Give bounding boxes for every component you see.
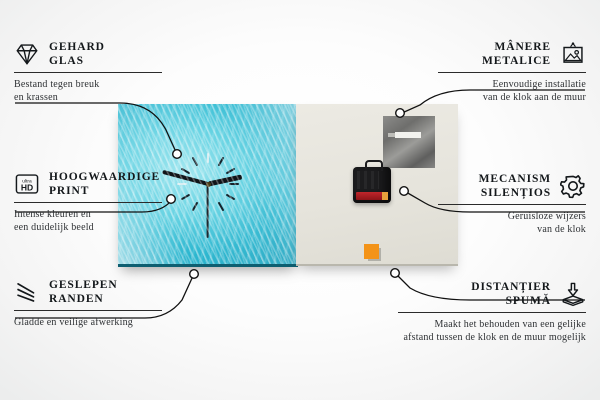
infographic-canvas: GEHARD GLAS Bestand tegen breuk en krass… (0, 0, 600, 400)
feature-subtitle-line1: Maakt het behouden van een gelijke (336, 318, 586, 331)
feature-title: DISTANȚIER SPUMĂ (471, 280, 551, 308)
feature-subtitle-line1: Bestand tegen breuk (14, 78, 224, 91)
feature-title: GEHARD GLAS (49, 40, 105, 68)
feature-manere-metalice: MÂNERE METALICE Eenvoudige installatie v… (376, 40, 586, 104)
feature-distantier-spuma: DISTANȚIER SPUMĂ Maakt het behouden van … (336, 280, 586, 344)
feature-hoogwaardige-print: ultra HD HOOGWAARDIGE PRINT Intense kleu… (14, 170, 224, 234)
feature-subtitle-line1: Eenvoudige installatie (376, 78, 586, 91)
feature-title: MÂNERE METALICE (482, 40, 551, 68)
foam-spacer (364, 244, 379, 259)
spacer-down-arrow-icon (560, 281, 586, 307)
feature-divider (14, 310, 162, 311)
feature-header: ultra HD HOOGWAARDIGE PRINT (14, 170, 224, 198)
gear-icon (560, 173, 586, 199)
feature-title: GESLEPEN RANDEN (49, 278, 118, 306)
feature-divider (14, 72, 162, 73)
wall-hanging-picture-icon (560, 41, 586, 67)
feature-divider (438, 204, 586, 205)
metal-hanger-plate (383, 116, 435, 168)
feature-header: DISTANȚIER SPUMĂ (336, 280, 586, 308)
feature-header: GESLEPEN RANDEN (14, 278, 224, 306)
feature-divider (14, 202, 162, 203)
feature-geslepen-randen: GESLEPEN RANDEN Gladde en veilige afwerk… (14, 278, 224, 329)
diamond-icon (14, 41, 40, 67)
feature-subtitle-line1: Gladde en veilige afwerking (14, 316, 224, 329)
svg-text:HD: HD (21, 183, 33, 193)
feature-header: MECANISM SILENȚIOS (376, 172, 586, 200)
feature-subtitle-line2: een duidelijk beeld (14, 221, 224, 234)
feature-header: MÂNERE METALICE (376, 40, 586, 68)
feature-gehard-glas: GEHARD GLAS Bestand tegen breuk en krass… (14, 40, 224, 104)
ultra-hd-icon: ultra HD (14, 171, 40, 197)
feature-header: GEHARD GLAS (14, 40, 224, 68)
feature-subtitle-line2: van de klok aan de muur (376, 91, 586, 104)
feature-title: HOOGWAARDIGE PRINT (49, 170, 160, 198)
feature-subtitle-line1: Intense kleuren en (14, 208, 224, 221)
mechanism-hanging-loop (365, 160, 383, 171)
feature-subtitle-line2: van de klok (376, 223, 586, 236)
feature-subtitle-line2: afstand tussen de klok en de muur mogeli… (336, 331, 586, 344)
hanger-slot (395, 132, 421, 138)
feature-title: MECANISM SILENȚIOS (479, 172, 551, 200)
feature-subtitle-line2: en krassen (14, 91, 224, 104)
feature-mecanism-silentios: MECANISM SILENȚIOS Geruisloze wijzers va… (376, 172, 586, 236)
beveled-edges-icon (14, 279, 40, 305)
feature-divider (398, 312, 586, 313)
feature-divider (438, 72, 586, 73)
feature-subtitle-line1: Geruisloze wijzers (376, 210, 586, 223)
